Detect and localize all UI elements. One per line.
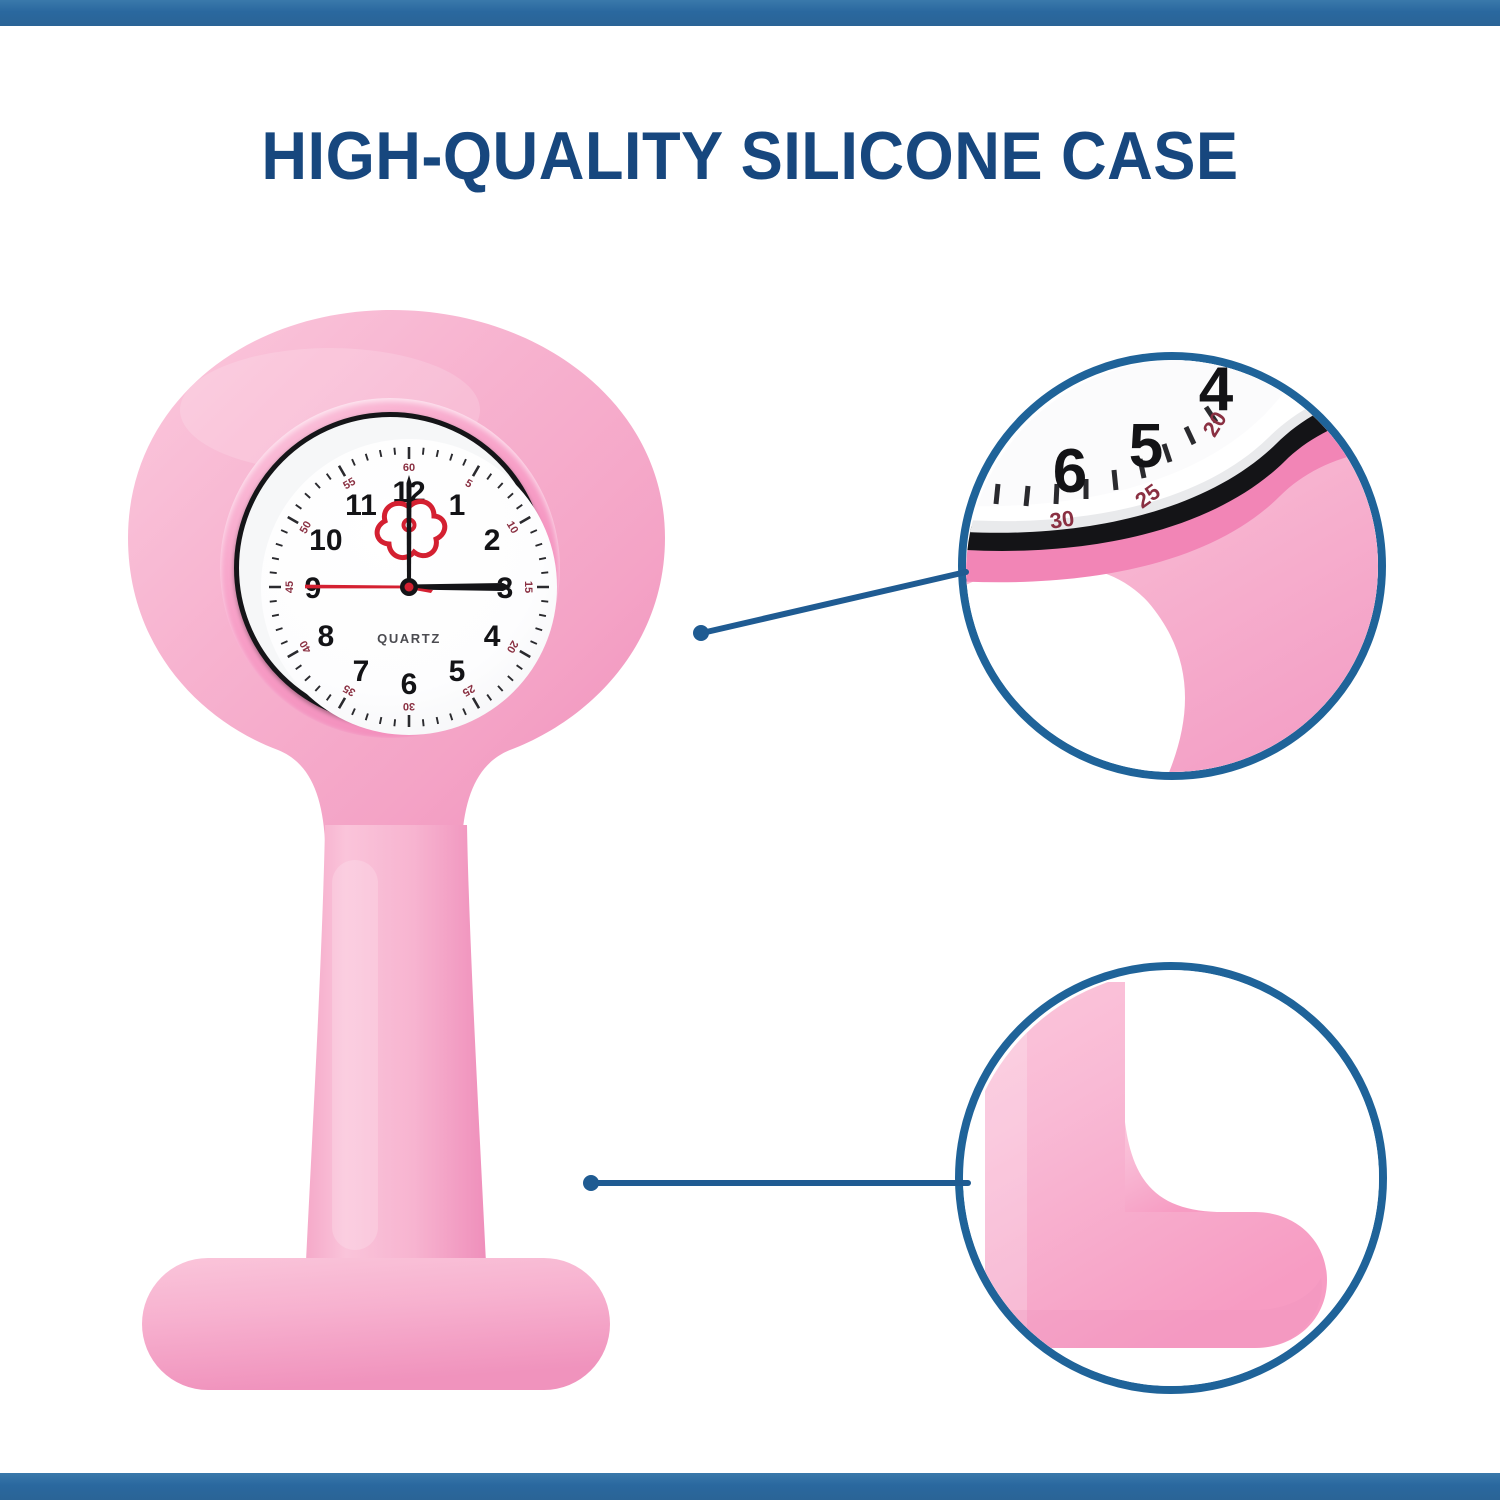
detail-circle-2-content: [955, 962, 1387, 1394]
tick-minor: [276, 544, 283, 546]
tick-minor: [535, 628, 542, 630]
tick-major: [339, 466, 345, 476]
tick-minor: [541, 601, 548, 602]
tick-minor: [487, 474, 491, 480]
page-title: HIGH-QUALITY SILICONE CASE: [53, 118, 1448, 194]
minute-numeral: 45: [284, 581, 296, 593]
minute-numeral: 20: [504, 638, 521, 655]
tick-minor: [531, 641, 537, 644]
tick-minor: [531, 530, 537, 533]
top-frame-bar: [0, 0, 1500, 26]
tick-minor: [450, 713, 452, 720]
hour-numeral: 2: [484, 524, 501, 557]
hour-numeral: 11: [345, 489, 377, 522]
detail-circle-1-content: 30 25 20 6 5 4: [958, 352, 1386, 780]
watch-case-ring: 51015202530354045505560 123456789101112 …: [234, 412, 546, 724]
tick-minor: [380, 450, 381, 457]
tick-minor: [394, 448, 395, 455]
tick-major: [473, 466, 479, 476]
tick-minor: [423, 448, 424, 455]
svg-text:5: 5: [1129, 412, 1163, 481]
tick-minor: [437, 717, 438, 724]
tick-minor: [380, 717, 381, 724]
minute-numeral: 15: [522, 581, 534, 593]
svg-text:6: 6: [1053, 437, 1087, 506]
tick-minor: [366, 713, 368, 720]
svg-text:30: 30: [1048, 505, 1076, 533]
tick-minor: [366, 454, 368, 461]
detail-2-graphics: [955, 962, 1387, 1394]
tick-major: [520, 517, 530, 523]
tick-minor: [539, 558, 546, 559]
tick-minor: [327, 474, 331, 480]
tick-major: [288, 517, 298, 523]
tick-minor: [272, 615, 279, 616]
tick-minor: [305, 493, 310, 498]
minute-numeral: 30: [403, 700, 415, 712]
tick-minor: [539, 615, 546, 616]
leader-line-callout-1: [702, 572, 966, 633]
tick-minor: [517, 505, 523, 509]
tick-minor: [463, 459, 466, 465]
tick-minor: [270, 601, 277, 602]
hour-numeral: 8: [318, 620, 335, 653]
tick-minor: [423, 719, 424, 726]
tick-minor: [352, 709, 355, 715]
tick-minor: [272, 558, 279, 559]
minute-numeral: 10: [504, 519, 521, 536]
tick-minor: [315, 686, 320, 691]
tick-minor: [296, 505, 302, 509]
tick-major: [520, 651, 530, 657]
hour-numeral: 1: [449, 489, 466, 522]
tick-minor: [498, 686, 503, 691]
tick-minor: [508, 493, 513, 498]
tick-minor: [315, 483, 320, 488]
tick-minor: [281, 641, 287, 644]
detail-circle-pin-base-corner: [955, 962, 1387, 1394]
quartz-label: QUARTZ: [377, 631, 441, 646]
hour-numeral: 10: [309, 524, 342, 557]
tick-minor: [517, 665, 523, 669]
hour-numeral: 4: [484, 620, 501, 653]
watch-dial-face: 51015202530354045505560 123456789101112 …: [261, 439, 557, 735]
fob-watch-product: 51015202530354045505560 123456789101112 …: [120, 300, 680, 1410]
product-infographic-canvas: HIGH-QUALITY SILICONE CASE: [0, 0, 1500, 1500]
tick-minor: [535, 544, 542, 546]
tick-minor: [463, 709, 466, 715]
tick-minor: [352, 459, 355, 465]
detail-circle-watch-bezel-edge: 30 25 20 6 5 4: [958, 352, 1386, 780]
tick-minor: [296, 665, 302, 669]
watch-dial-graphics: 51015202530354045505560 123456789101112 …: [261, 439, 557, 735]
watch-dial-assembly: 51015202530354045505560 123456789101112 …: [220, 398, 560, 738]
svg-text:4: 4: [1199, 355, 1234, 424]
leader-dot-callout-1: [693, 625, 709, 641]
tick-major: [288, 651, 298, 657]
hour-numeral: 9: [305, 572, 322, 605]
tick-minor: [394, 719, 395, 726]
tick-minor: [487, 695, 491, 701]
detail-1-graphics: 30 25 20 6 5 4: [958, 352, 1386, 780]
tick-minor: [276, 628, 283, 630]
hour-numeral: 5: [449, 655, 466, 688]
tick-minor: [541, 572, 548, 573]
minute-numeral: 60: [403, 462, 415, 474]
tick-minor: [508, 676, 513, 681]
tick-minor: [498, 483, 503, 488]
tick-minor: [305, 676, 310, 681]
minute-numeral: 40: [298, 638, 315, 655]
hour-numeral: 6: [401, 668, 418, 701]
tick-major: [473, 698, 479, 708]
hour-numeral: 7: [353, 655, 370, 688]
bottom-frame-bar: [0, 1473, 1500, 1500]
tick-minor: [270, 572, 277, 573]
tick-minor: [437, 450, 438, 457]
tick-minor: [327, 695, 331, 701]
tick-minor: [450, 454, 452, 461]
tick-major: [339, 698, 345, 708]
tick-minor: [281, 530, 287, 533]
